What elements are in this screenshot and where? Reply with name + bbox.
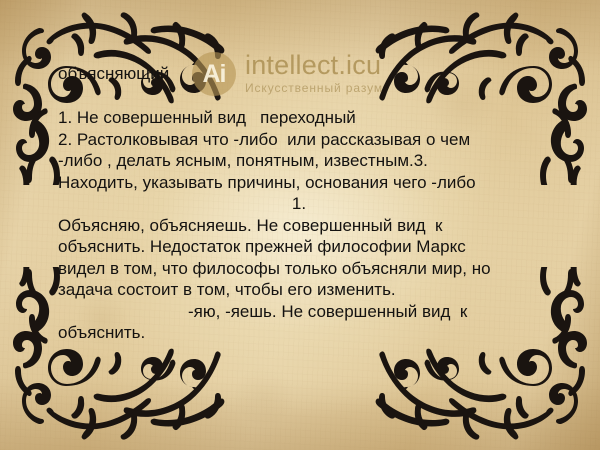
conjugation-line: -яю, -яешь. Не совершенный вид к	[58, 301, 558, 323]
parchment-page: Ai intellect.icu Искусственный разум объ…	[0, 0, 600, 450]
dictionary-entry: объясняющий 1. Не совершенный вид перехо…	[58, 64, 558, 344]
definition-block: 1. Не совершенный вид переходный 2. Раст…	[58, 107, 558, 193]
conjugation-tail: объяснить.	[58, 322, 558, 344]
conjugation-text: -яю, -яешь. Не совершенный вид к	[188, 302, 467, 321]
centered-sense-marker: 1.	[58, 193, 558, 215]
usage-block: Объясняю, объясняешь. Не совершенный вид…	[58, 215, 558, 301]
headword: объясняющий	[58, 64, 558, 84]
